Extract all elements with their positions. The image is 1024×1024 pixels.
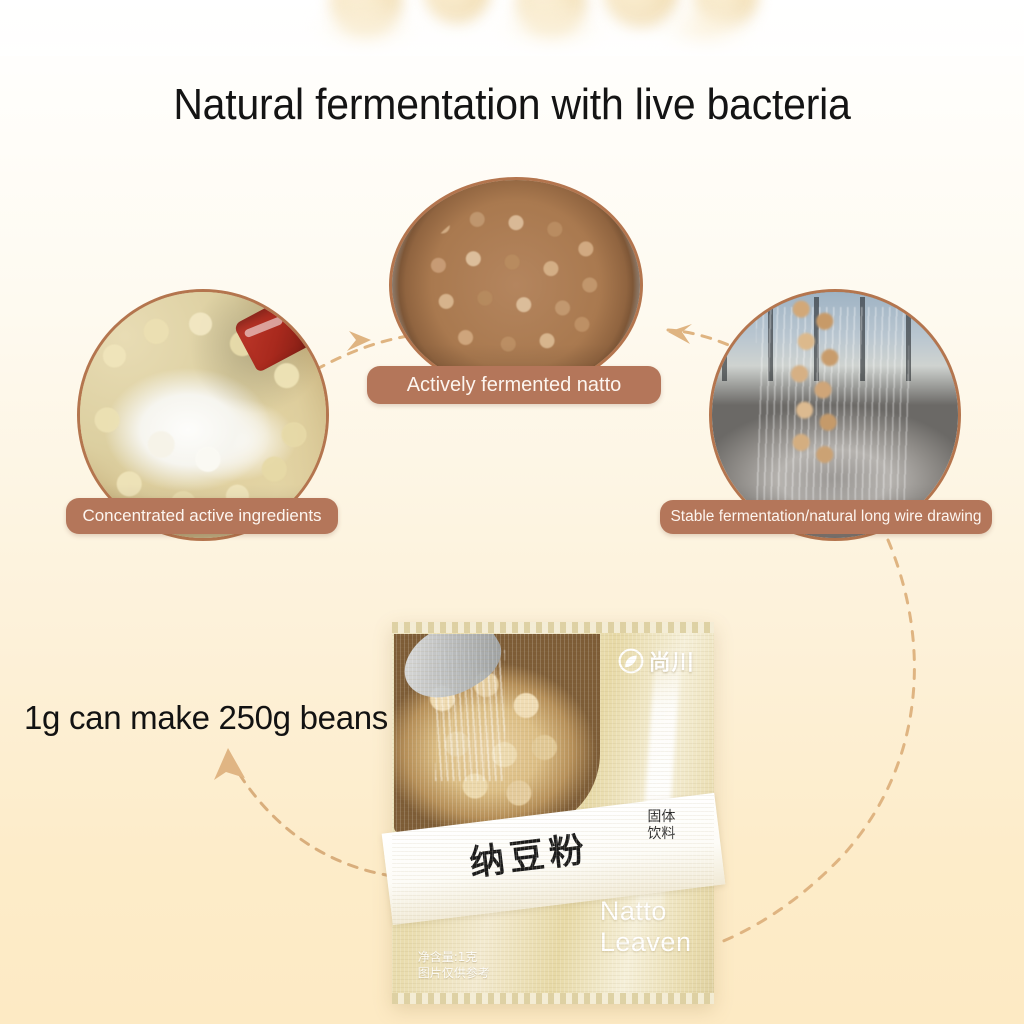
- swirl-leaf-logo-icon: [618, 648, 644, 674]
- sachet-food-photo: [394, 634, 600, 833]
- product-name-en-line1: Natto: [600, 896, 692, 927]
- brand-name-cn: 尚川: [649, 645, 695, 677]
- caption-concentrated-active-ingredients: Concentrated active ingredients: [66, 498, 338, 534]
- page-title: Natural fermentation with live bacteria: [36, 76, 988, 134]
- brand-logo: 尚川: [618, 645, 695, 677]
- connector-right-to-product: [716, 540, 914, 944]
- product-name-en: Natto Leaven: [600, 896, 692, 958]
- product-name-en-line2: Leaven: [600, 927, 692, 958]
- top-soybean-decoration: [0, 0, 1024, 56]
- sachet-fine-print: 净含量:1克 图片仅供参考: [418, 949, 490, 981]
- sachet-serrated-top-edge: [392, 622, 714, 633]
- caption-actively-fermented-natto: Actively fermented natto: [367, 366, 661, 404]
- product-sachet: 尚川 纳豆粉 固体 饮料 Natto Leaven 净含量:1克 图片仅供参考: [392, 622, 714, 1004]
- yield-statement: 1g can make 250g beans: [24, 697, 388, 739]
- falling-beans: [776, 297, 860, 499]
- sachet-serrated-bottom-edge: [392, 993, 714, 1004]
- natto-bean-texture: [419, 203, 612, 367]
- category-line-1: 固体: [647, 809, 675, 826]
- caption-stable-fermentation: Stable fermentation/natural long wire dr…: [660, 500, 992, 534]
- category-line-2: 饮料: [647, 826, 675, 843]
- product-category-cn: 固体 饮料: [647, 809, 675, 843]
- connector-product-to-statement: [214, 748, 392, 876]
- step-photo-actively-fermented-natto: [392, 180, 640, 390]
- infographic-canvas: Natural fermentation with live bacteria: [0, 0, 1024, 1024]
- net-weight: 净含量:1克: [418, 949, 490, 965]
- photo-disclaimer: 图片仅供参考: [418, 965, 490, 981]
